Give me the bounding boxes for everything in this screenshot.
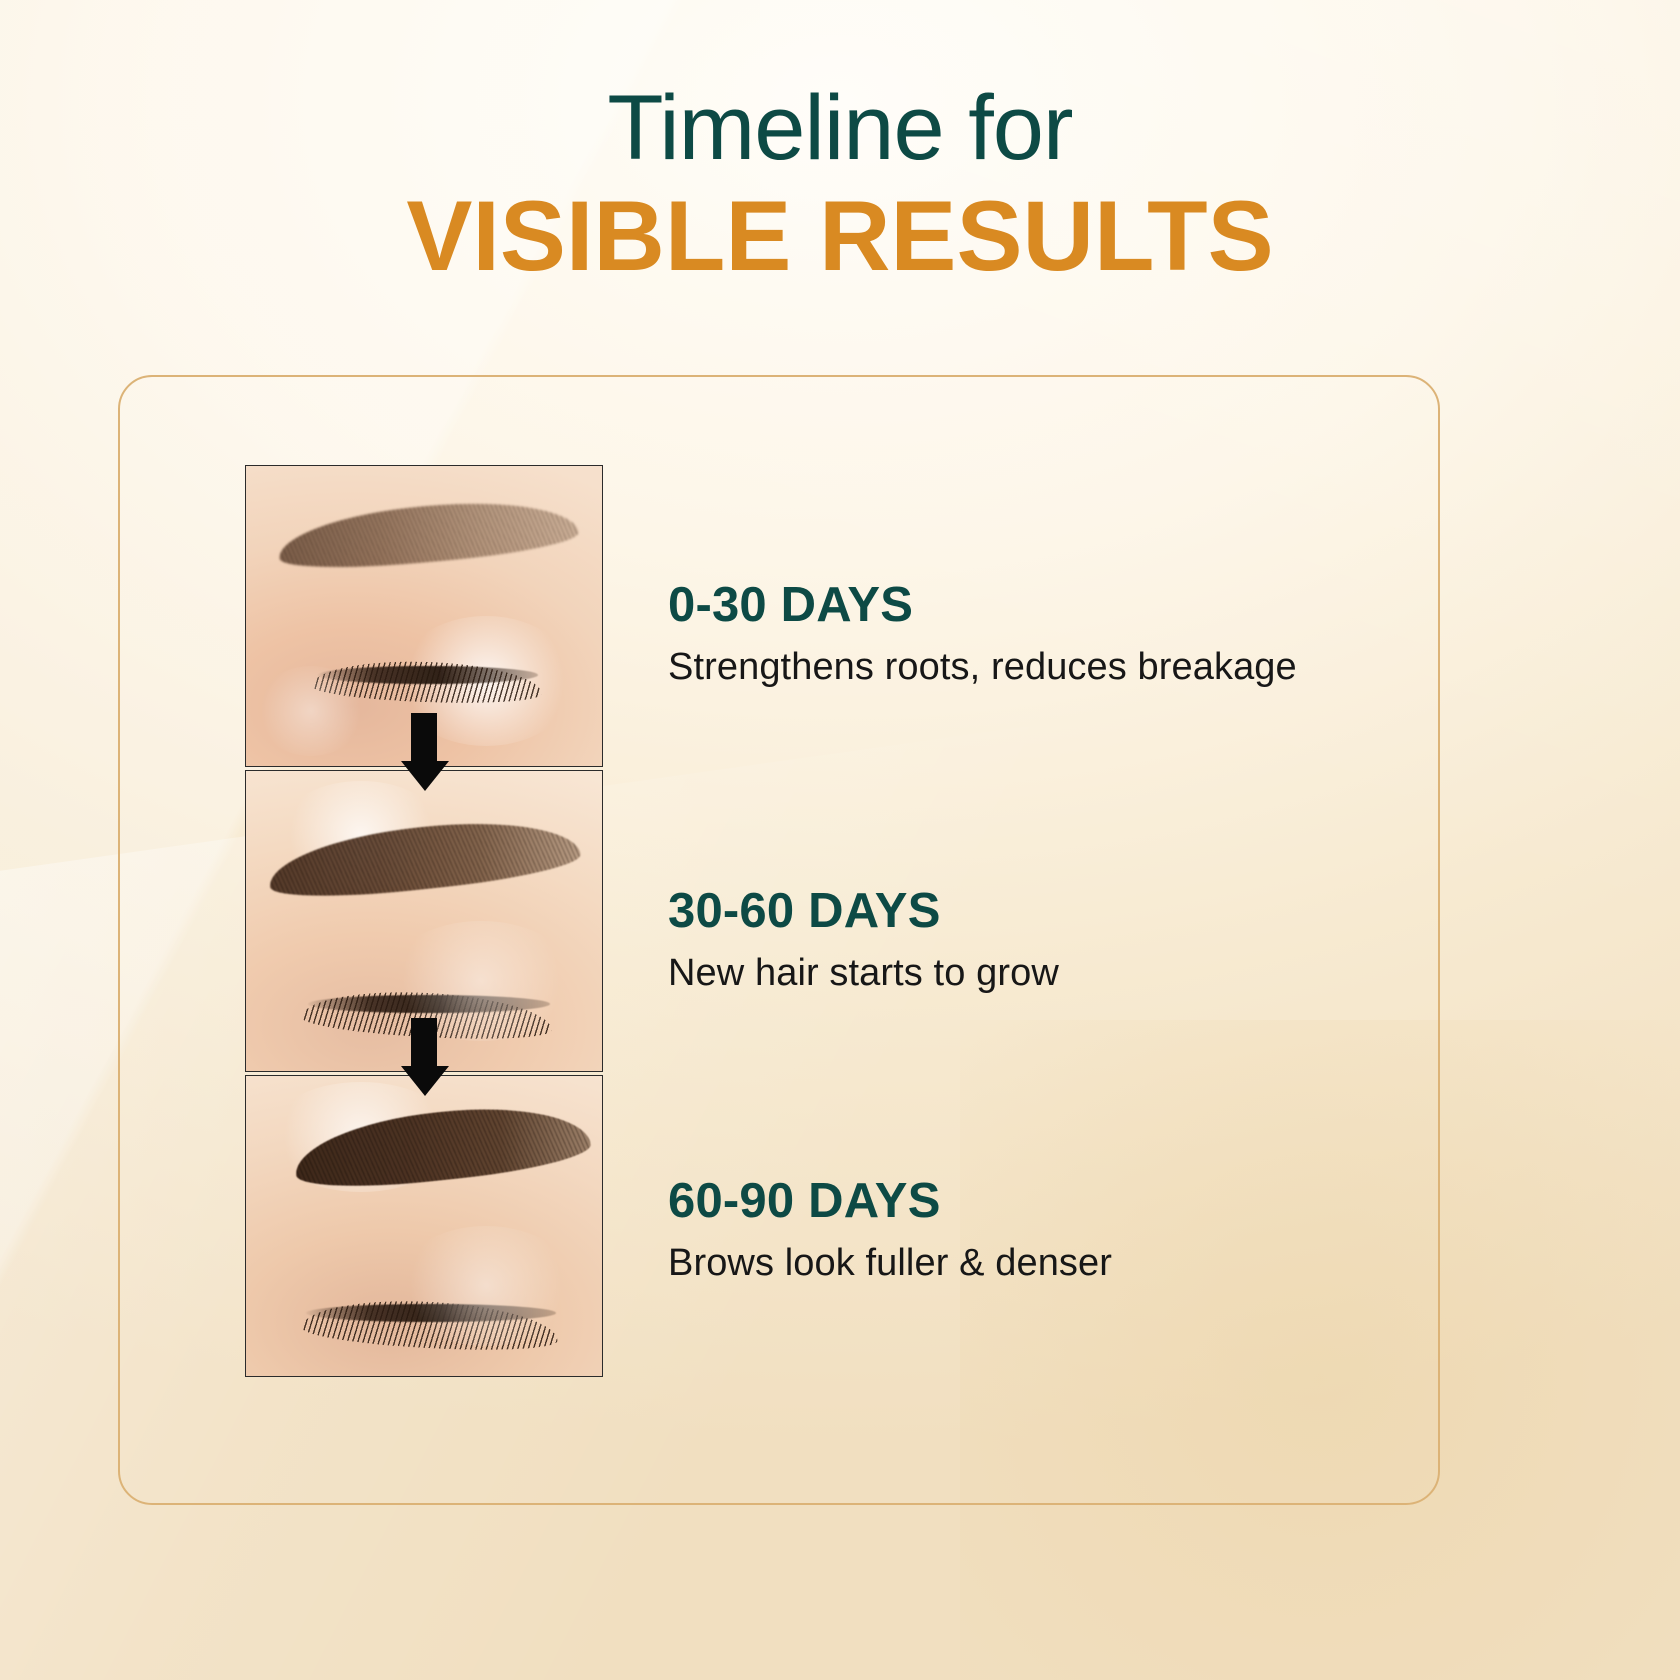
timeline-step-0-30: 0-30 DAYS Strengthens roots, reduces bre… bbox=[668, 580, 1428, 691]
arrow-down-2 bbox=[401, 1018, 447, 1096]
step-description: Brows look fuller & denser bbox=[668, 1241, 1428, 1287]
arrow-head bbox=[401, 761, 449, 791]
infographic-canvas: Timeline for VISIBLE RESULTS bbox=[0, 0, 1680, 1680]
page-title: Timeline for VISIBLE RESULTS bbox=[0, 82, 1680, 285]
step-title: 30-60 DAYS bbox=[668, 886, 1428, 937]
highlight-spot bbox=[396, 1226, 576, 1346]
step-description: New hair starts to grow bbox=[668, 951, 1428, 997]
arrow-stem bbox=[411, 713, 437, 761]
arrow-down-1 bbox=[401, 713, 447, 791]
highlight-spot-2 bbox=[256, 666, 366, 756]
photo-column bbox=[245, 465, 603, 1377]
step-title: 60-90 DAYS bbox=[668, 1176, 1428, 1227]
arrow-stem bbox=[411, 1018, 437, 1066]
step-title: 0-30 DAYS bbox=[668, 580, 1428, 631]
title-line-highlight: VISIBLE RESULTS bbox=[0, 186, 1680, 285]
timeline-step-60-90: 60-90 DAYS Brows look fuller & denser bbox=[668, 1176, 1428, 1287]
photo-eyebrow-after bbox=[245, 1075, 603, 1377]
arrow-head bbox=[401, 1066, 449, 1096]
timeline-step-30-60: 30-60 DAYS New hair starts to grow bbox=[668, 886, 1428, 997]
title-line-primary: Timeline for bbox=[0, 82, 1680, 174]
step-description: Strengthens roots, reduces breakage bbox=[668, 645, 1428, 691]
